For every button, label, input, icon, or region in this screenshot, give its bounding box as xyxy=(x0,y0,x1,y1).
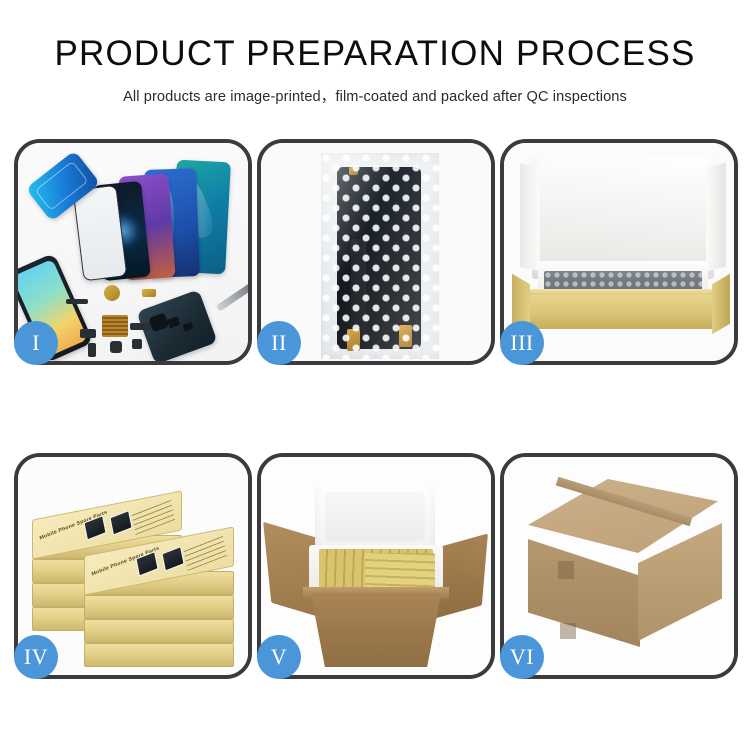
step-badge-4: IV xyxy=(14,635,58,679)
stacked-box xyxy=(84,595,234,619)
process-step-panel-4: Mobile Phone Spare Parts Mobile Phone Sp… xyxy=(14,453,252,679)
carton-seam-top xyxy=(558,561,574,579)
step-badge-5: V xyxy=(257,635,301,679)
stacked-box xyxy=(84,619,234,643)
box-stack: Mobile Phone Spare Parts Mobile Phone Sp… xyxy=(26,475,248,665)
process-step-panel-2: II xyxy=(257,139,495,365)
sim-tray xyxy=(88,343,96,357)
box-window-front-b xyxy=(161,546,184,572)
camera-module xyxy=(110,341,122,353)
page-header: PRODUCT PREPARATION PROCESS All products… xyxy=(0,0,750,106)
flex-cable xyxy=(130,323,150,330)
box-window-back-b xyxy=(109,510,132,536)
small-chip-b xyxy=(132,339,142,349)
page-subtitle: All products are image-printed，film-coat… xyxy=(0,85,750,106)
box-spec-lines-front xyxy=(183,533,227,571)
carton-body xyxy=(305,593,447,667)
gold-contact xyxy=(142,289,156,297)
step-badge-2: II xyxy=(257,321,301,365)
step-badge-3: III xyxy=(500,321,544,365)
connector-pad xyxy=(102,315,128,337)
bubble-wrap-bag xyxy=(321,153,439,359)
process-step-panel-1: I xyxy=(14,139,252,365)
step-badge-6: VI xyxy=(500,635,544,679)
speaker-part xyxy=(104,285,120,301)
yellow-boxes-row-b xyxy=(365,553,435,591)
process-step-panel-6: VI xyxy=(500,453,738,679)
box-spec-lines-back xyxy=(131,497,175,535)
carton-seam-bottom xyxy=(560,623,576,639)
process-grid: I II xyxy=(14,139,738,679)
step-badge-1: I xyxy=(14,321,58,365)
page-title: PRODUCT PREPARATION PROCESS xyxy=(0,36,750,73)
plastic-sheen xyxy=(321,153,439,359)
stacked-box xyxy=(84,643,234,667)
small-chip-a xyxy=(80,329,96,338)
kraft-box-front xyxy=(526,295,716,329)
process-step-panel-3: III xyxy=(500,139,738,365)
process-step-panel-5: V xyxy=(257,453,495,679)
earpiece-mesh xyxy=(66,299,88,304)
